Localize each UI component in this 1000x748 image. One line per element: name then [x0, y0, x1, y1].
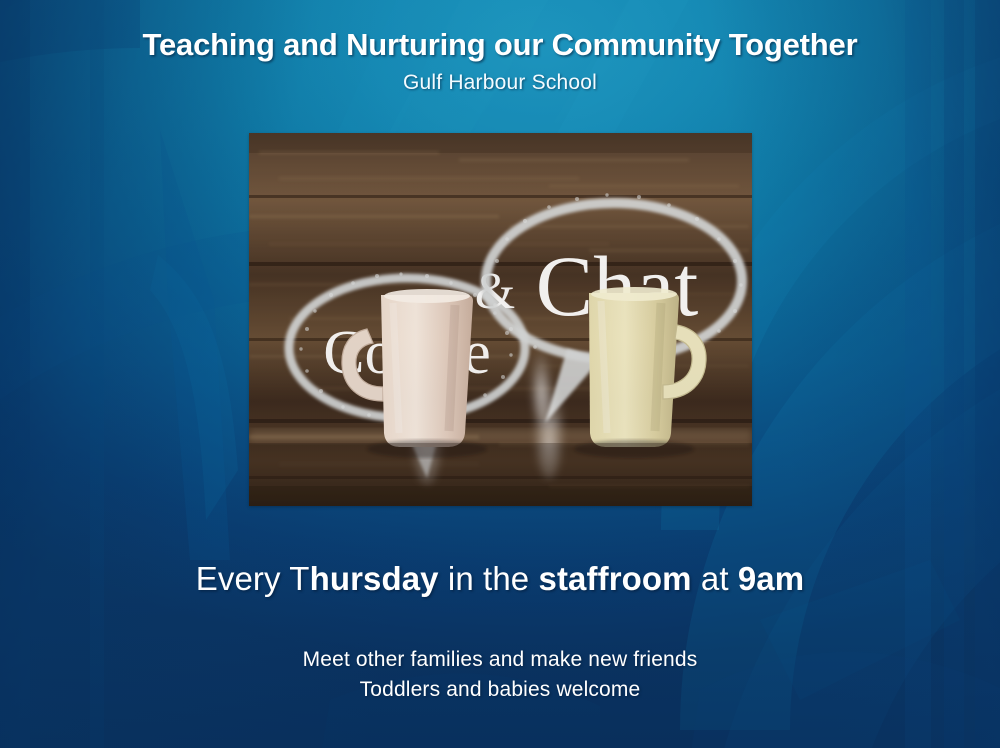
poster-header: Teaching and Nurturing our Community Tog… — [0, 0, 1000, 95]
page-subtitle: Gulf Harbour School — [0, 62, 1000, 95]
when-seg-2: in the — [439, 560, 539, 597]
coffee-and-chat-photo: Coffee & — [249, 133, 752, 506]
blurb-line-2: Toddlers and babies welcome — [0, 675, 1000, 705]
meeting-details: Every Thursday in the staffroom at 9am — [0, 560, 1000, 598]
poster-slide: Teaching and Nurturing our Community Tog… — [0, 0, 1000, 748]
meeting-time-line: Every Thursday in the staffroom at 9am — [0, 560, 1000, 598]
page-title: Teaching and Nurturing our Community Tog… — [0, 0, 1000, 62]
when-seg-5: 9am — [738, 560, 804, 597]
photo-illustration: Coffee & — [249, 133, 752, 506]
invitation-blurb: Meet other families and make new friends… — [0, 645, 1000, 705]
when-seg-0: Every T — [196, 560, 310, 597]
blurb-line-1: Meet other families and make new friends — [0, 645, 1000, 675]
when-seg-4: at — [692, 560, 738, 597]
when-seg-1: hursday — [310, 560, 439, 597]
when-seg-3: staffroom — [539, 560, 692, 597]
